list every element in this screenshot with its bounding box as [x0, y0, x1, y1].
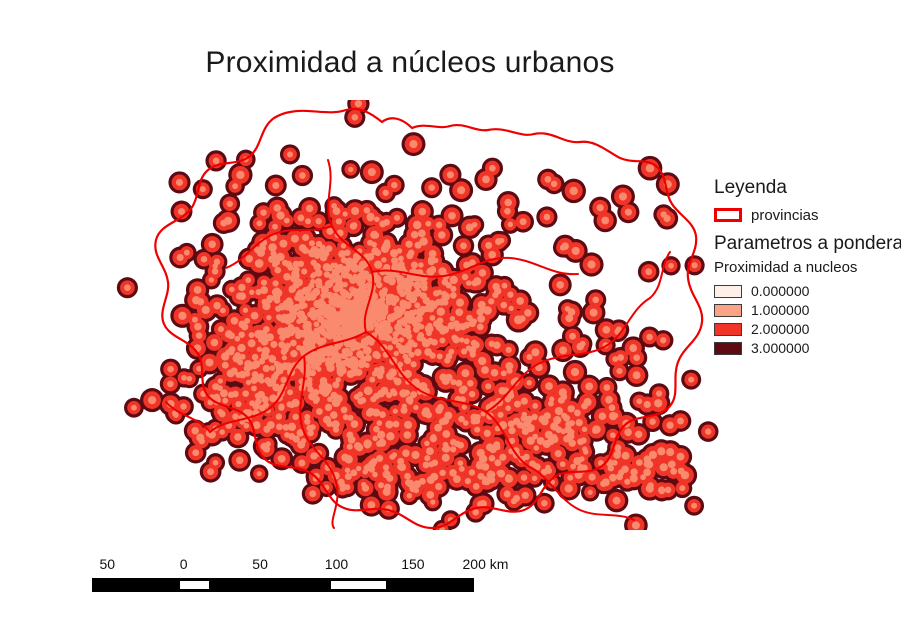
legend-class-swatch [714, 323, 742, 336]
legend-class-label: 1.000000 [751, 302, 809, 318]
scale-bar-tick-label: 150 [401, 556, 424, 572]
legend-item-provincias[interactable]: provincias [714, 205, 894, 225]
legend-class-swatch [714, 285, 742, 298]
legend-class-swatch [714, 342, 742, 355]
scale-bar-tick-label: 100 [325, 556, 348, 572]
legend-heading: Leyenda [714, 176, 894, 200]
legend-class-row[interactable]: 1.000000 [714, 301, 894, 319]
legend-class-label: 2.000000 [751, 321, 809, 337]
map-page: Proximidad a núcleos urbanos Leyenda pro… [0, 0, 901, 630]
scale-bar-segment [331, 581, 386, 589]
scale-bar-tick-label: 50 [99, 556, 115, 572]
legend-subsection-heading: Proximidad a nucleos [714, 257, 894, 279]
scale-bar-tick-label: 50 [252, 556, 268, 572]
scale-bar: 50050100150200 km [92, 556, 474, 596]
provincias-swatch-icon [714, 208, 742, 222]
legend-class-label: 3.000000 [751, 340, 809, 356]
map-canvas[interactable] [60, 100, 720, 530]
legend-class-list: 0.0000001.0000002.0000003.000000 [714, 282, 894, 357]
map-svg[interactable] [60, 100, 720, 530]
legend-section-heading: Parametros a ponderar [714, 231, 894, 256]
scale-bar-tick-label: 0 [180, 556, 188, 572]
legend-class-row[interactable]: 3.000000 [714, 339, 894, 357]
page-title: Proximidad a núcleos urbanos [0, 46, 820, 80]
legend-class-row[interactable]: 0.000000 [714, 282, 894, 300]
legend-class-swatch [714, 304, 742, 317]
scale-bar-labels: 50050100150200 km [92, 556, 474, 574]
legend-class-row[interactable]: 2.000000 [714, 320, 894, 338]
scale-bar-graphic [92, 578, 474, 592]
legend-class-label: 0.000000 [751, 283, 809, 299]
legend: Leyenda provincias Parametros a ponderar… [714, 176, 894, 358]
scale-bar-segment [180, 581, 209, 589]
provincias-label: provincias [751, 207, 819, 224]
scale-bar-tick-label: 200 km [462, 556, 508, 572]
